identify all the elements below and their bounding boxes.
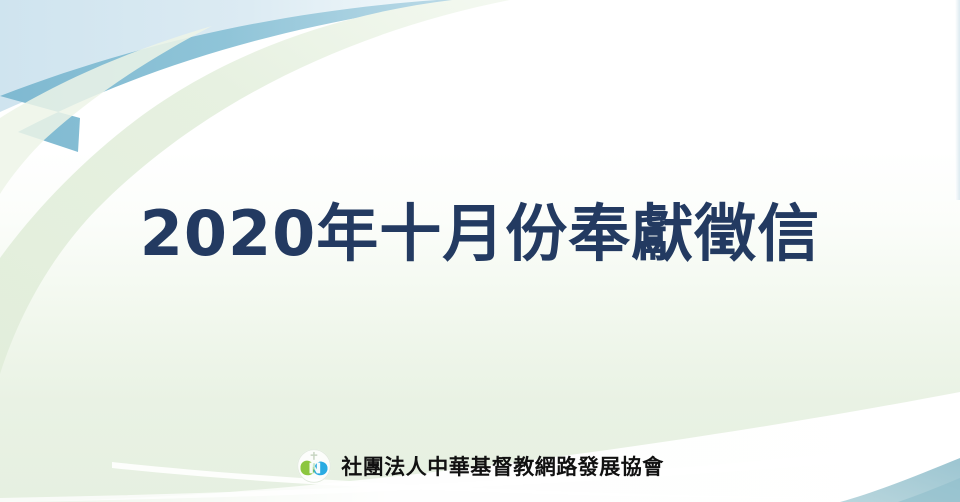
footer-organization-name: 社團法人中華基督教網路發展協會 [341, 451, 664, 481]
title-block: 2020年十月份奉獻徵信 [0, 198, 960, 269]
association-logo-icon [296, 448, 332, 484]
slide-canvas: 2020年十月份奉獻徵信 社團法人中華基督教網路發展協會 [0, 0, 960, 502]
footer: 社團法人中華基督教網路發展協會 [0, 448, 960, 484]
page-title: 2020年十月份奉獻徵信 [140, 198, 821, 269]
